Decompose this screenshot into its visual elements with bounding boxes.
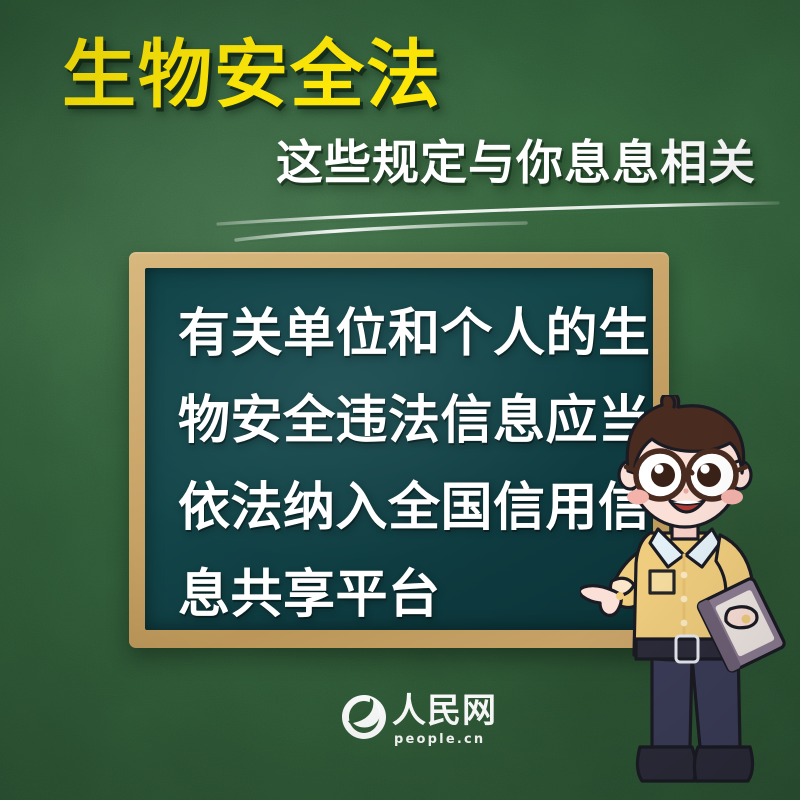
blackboard-text-block: 有关单位和个人的生 物安全违法信息应当 依法纳入全国信用信 息共享平台 <box>178 290 643 630</box>
blackboard-line: 依法纳入全国信用信 <box>178 464 643 551</box>
page-title: 生物安全法 <box>62 38 442 112</box>
blackboard-line: 息共享平台 <box>178 551 643 630</box>
logo-text-cn: 人民网 <box>392 691 497 731</box>
blackboard-surface: 有关单位和个人的生 物安全违法信息应当 依法纳入全国信用信 息共享平台 <box>145 268 653 630</box>
cartoon-boy-illustration <box>580 395 800 800</box>
globe-crescent-icon <box>340 693 388 741</box>
poster-canvas: 生物安全法 这些规定与你息息相关 有关单位和个人的生 物 <box>0 0 800 800</box>
blackboard-line: 有关单位和个人的生 <box>178 290 643 377</box>
page-subtitle: 这些规定与你息息相关 <box>276 140 756 187</box>
blackboard-line: 物安全违法信息应当 <box>178 377 643 464</box>
renminwang-logo[interactable]: 人民网 people.cn <box>340 693 500 755</box>
logo-text-en: people.cn <box>394 732 485 747</box>
